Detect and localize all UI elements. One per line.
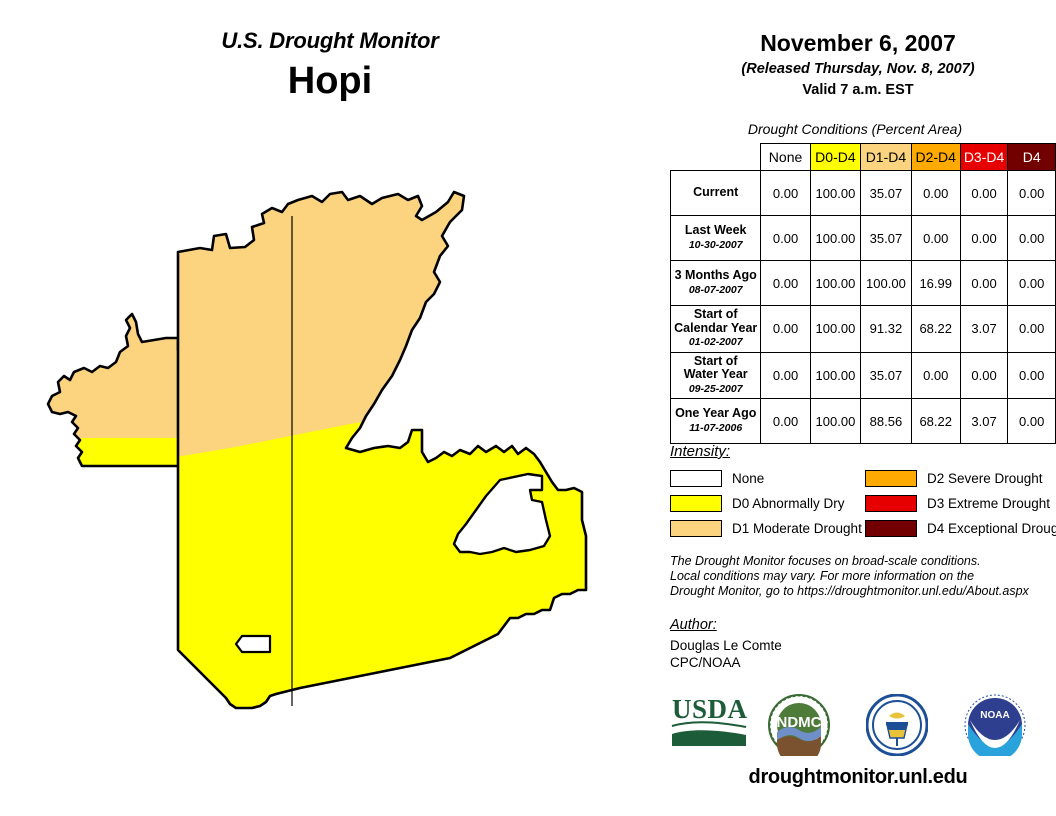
- legend-grid: NoneD0 Abnormally DryD1 Moderate Drought…: [670, 468, 1056, 540]
- table-cell: 100.00: [810, 216, 861, 261]
- date-block: November 6, 2007 (Released Thursday, Nov…: [660, 30, 1056, 98]
- map-panel: U.S. Drought Monitor Hopi: [0, 0, 660, 816]
- map-notch-white: [236, 636, 270, 652]
- disclaimer-line-2: Local conditions may vary. For more info…: [670, 569, 1050, 584]
- legend-label: None: [732, 471, 764, 486]
- author-heading: Author:: [670, 617, 1050, 633]
- table-col-header-d1-d4: D1-D4: [861, 144, 912, 171]
- table-row: Current0.00100.0035.070.000.000.00: [671, 171, 1056, 216]
- table-cell: 0.00: [761, 399, 810, 444]
- table-cell: 0.00: [1008, 216, 1056, 261]
- table-cell: 91.32: [861, 306, 912, 353]
- legend-label: D4 Exceptional Drought: [927, 521, 1056, 536]
- usda-logo[interactable]: USDA: [670, 694, 748, 755]
- row-label-text: Current: [693, 185, 738, 199]
- ndmc-logo[interactable]: NDMC: [768, 694, 830, 761]
- table-row: One Year Ago11-07-20060.00100.0088.5668.…: [671, 399, 1056, 444]
- table-col-header-d4: D4: [1008, 144, 1056, 171]
- table-cell: 0.00: [960, 261, 1008, 306]
- table-cell: 0.00: [1008, 352, 1056, 399]
- map-svg: [30, 190, 650, 720]
- legend-item-d2: D2 Severe Drought: [865, 468, 1043, 488]
- table-cell: 0.00: [761, 352, 810, 399]
- legend-item-d0: D0 Abnormally Dry: [670, 493, 845, 513]
- row-label-text: Start ofWater Year: [684, 354, 748, 382]
- table-cell: 100.00: [861, 261, 912, 306]
- table-cell: 0.00: [960, 171, 1008, 216]
- table-cell: 0.00: [911, 216, 960, 261]
- legend-item-d4: D4 Exceptional Drought: [865, 518, 1056, 538]
- table-cell: 0.00: [761, 306, 810, 353]
- author-block: Author: Douglas Le Comte CPC/NOAA: [670, 617, 1050, 671]
- row-label-date: 11-07-2006: [672, 422, 759, 436]
- disclaimer-line-1: The Drought Monitor focuses on broad-sca…: [670, 554, 1050, 569]
- disclaimer-text: The Drought Monitor focuses on broad-sca…: [670, 554, 1050, 599]
- legend-swatch: [865, 470, 917, 487]
- map-title-block: U.S. Drought Monitor Hopi: [0, 28, 660, 103]
- intensity-legend: Intensity: NoneD0 Abnormally DryD1 Moder…: [670, 443, 1056, 540]
- table-row-label: Start ofCalendar Year01-02-2007: [671, 306, 761, 353]
- table-corner-cell: [671, 144, 761, 171]
- row-label-date: 08-07-2007: [672, 284, 759, 298]
- intensity-heading: Intensity:: [670, 443, 1056, 460]
- table-col-header-d0-d4: D0-D4: [810, 144, 861, 171]
- table-caption: Drought Conditions (Percent Area): [660, 121, 1050, 137]
- legend-swatch: [865, 520, 917, 537]
- table-cell: 3.07: [960, 306, 1008, 353]
- table-row: 3 Months Ago08-07-20070.00100.00100.0016…: [671, 261, 1056, 306]
- row-label-date: 09-25-2007: [672, 383, 759, 397]
- table-cell: 35.07: [861, 171, 912, 216]
- table-col-header-d2-d4: D2-D4: [911, 144, 960, 171]
- table-row-label: Start ofWater Year09-25-2007: [671, 352, 761, 399]
- svg-text:NOAA: NOAA: [980, 710, 1009, 721]
- noaa-logo[interactable]: NOAA: [964, 694, 1026, 761]
- legend-label: D2 Severe Drought: [927, 471, 1043, 486]
- author-affiliation: CPC/NOAA: [670, 654, 1050, 671]
- table-cell: 0.00: [960, 352, 1008, 399]
- drought-map[interactable]: [30, 190, 650, 720]
- legend-label: D0 Abnormally Dry: [732, 496, 845, 511]
- table-cell: 0.00: [761, 171, 810, 216]
- row-label-text: Last Week: [685, 223, 747, 237]
- table-row-label: 3 Months Ago08-07-2007: [671, 261, 761, 306]
- table-cell: 68.22: [911, 399, 960, 444]
- table-cell: 0.00: [1008, 306, 1056, 353]
- disclaimer-line-3: Drought Monitor, go to https://droughtmo…: [670, 584, 1050, 599]
- table-body: Current0.00100.0035.070.000.000.00Last W…: [671, 171, 1056, 444]
- logo-row: USDA NDMC: [660, 694, 1056, 764]
- table-row: Start ofWater Year09-25-20070.00100.0035…: [671, 352, 1056, 399]
- legend-swatch: [865, 495, 917, 512]
- table-header-row: NoneD0-D4D1-D4D2-D4D3-D4D4: [671, 144, 1056, 171]
- report-date: November 6, 2007: [660, 30, 1056, 57]
- table-col-header-d3-d4: D3-D4: [960, 144, 1008, 171]
- legend-swatch: [670, 520, 722, 537]
- legend-item-d3: D3 Extreme Drought: [865, 493, 1050, 513]
- table-header: NoneD0-D4D1-D4D2-D4D3-D4D4: [671, 144, 1056, 171]
- row-label-date: 10-30-2007: [672, 239, 759, 253]
- table-cell: 100.00: [810, 306, 861, 353]
- table-col-header-none: None: [761, 144, 810, 171]
- legend-item-d1: D1 Moderate Drought: [670, 518, 862, 538]
- table-cell: 0.00: [960, 216, 1008, 261]
- table-cell: 0.00: [1008, 261, 1056, 306]
- program-title: U.S. Drought Monitor: [0, 28, 660, 54]
- table-cell: 35.07: [861, 216, 912, 261]
- svg-text:NDMC: NDMC: [777, 714, 822, 731]
- table-cell: 0.00: [761, 261, 810, 306]
- table-row: Start ofCalendar Year01-02-20070.00100.0…: [671, 306, 1056, 353]
- site-url[interactable]: droughtmonitor.unl.edu: [660, 766, 1056, 789]
- row-label-date: 01-02-2007: [672, 336, 759, 350]
- table-row-label: Last Week10-30-2007: [671, 216, 761, 261]
- table-cell: 0.00: [761, 216, 810, 261]
- author-name: Douglas Le Comte: [670, 637, 1050, 654]
- table-cell: 35.07: [861, 352, 912, 399]
- table-cell: 100.00: [810, 171, 861, 216]
- table-row-label: Current: [671, 171, 761, 216]
- table-cell: 100.00: [810, 261, 861, 306]
- table-cell: 0.00: [911, 352, 960, 399]
- row-label-text: Start ofCalendar Year: [674, 307, 757, 335]
- table-cell: 16.99: [911, 261, 960, 306]
- right-panel: November 6, 2007 (Released Thursday, Nov…: [660, 0, 1056, 816]
- table-cell: 100.00: [810, 352, 861, 399]
- table-cell: 100.00: [810, 399, 861, 444]
- row-label-text: One Year Ago: [675, 406, 756, 420]
- usdc-seal-logo[interactable]: [866, 694, 928, 761]
- table-row-label: One Year Ago11-07-2006: [671, 399, 761, 444]
- table-cell: 68.22: [911, 306, 960, 353]
- table-cell: 0.00: [911, 171, 960, 216]
- table-cell: 0.00: [1008, 399, 1056, 444]
- legend-label: D1 Moderate Drought: [732, 521, 862, 536]
- table-cell: 3.07: [960, 399, 1008, 444]
- table-cell: 0.00: [1008, 171, 1056, 216]
- svg-text:USDA: USDA: [672, 694, 748, 724]
- table-cell: 88.56: [861, 399, 912, 444]
- drought-conditions-table: NoneD0-D4D1-D4D2-D4D3-D4D4 Current0.0010…: [670, 143, 1056, 444]
- legend-swatch: [670, 470, 722, 487]
- release-date: (Released Thursday, Nov. 8, 2007): [660, 61, 1056, 77]
- map-fill-d0-main: [170, 402, 650, 720]
- table-row: Last Week10-30-20070.00100.0035.070.000.…: [671, 216, 1056, 261]
- legend-item-none: None: [670, 468, 764, 488]
- row-label-text: 3 Months Ago: [675, 268, 757, 282]
- legend-swatch: [670, 495, 722, 512]
- region-title: Hopi: [0, 60, 660, 103]
- valid-time: Valid 7 a.m. EST: [660, 82, 1056, 98]
- legend-label: D3 Extreme Drought: [927, 496, 1050, 511]
